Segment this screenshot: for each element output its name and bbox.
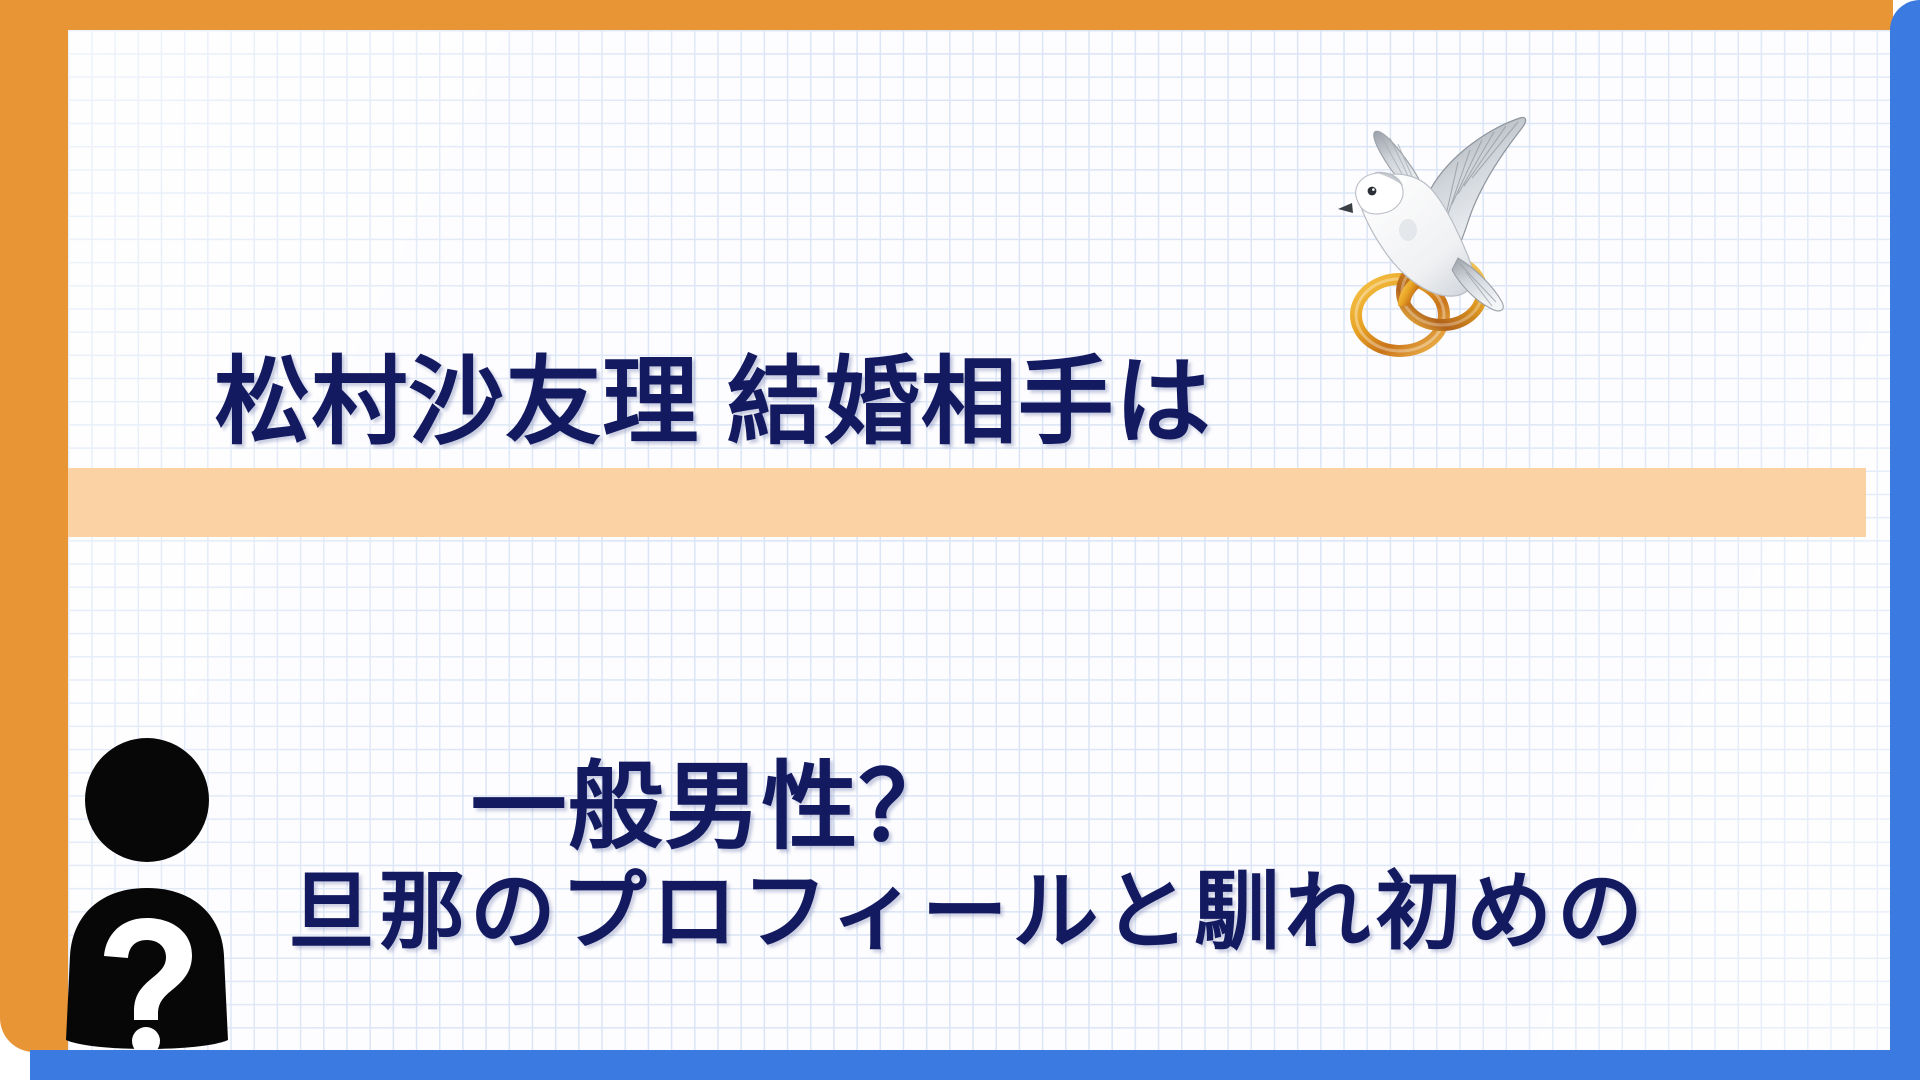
- thumbnail-card: 松村沙友理 結婚相手は 一般男性？: [0, 0, 1920, 1080]
- subheadline: 旦那のプロフィールと馴れ初めの 最新情報まとめ: [68, 596, 1868, 1080]
- subheadline-line-1: 旦那のプロフィールと馴れ初めの: [68, 849, 1868, 975]
- headline-line-1: 松村沙友理 結婚相手は: [68, 335, 1358, 471]
- top-orange-bar: [0, 0, 1893, 30]
- dove-wedding-rings-icon: [1322, 70, 1537, 370]
- peach-divider-band: [68, 468, 1866, 537]
- right-blue-bar: [1890, 0, 1920, 1080]
